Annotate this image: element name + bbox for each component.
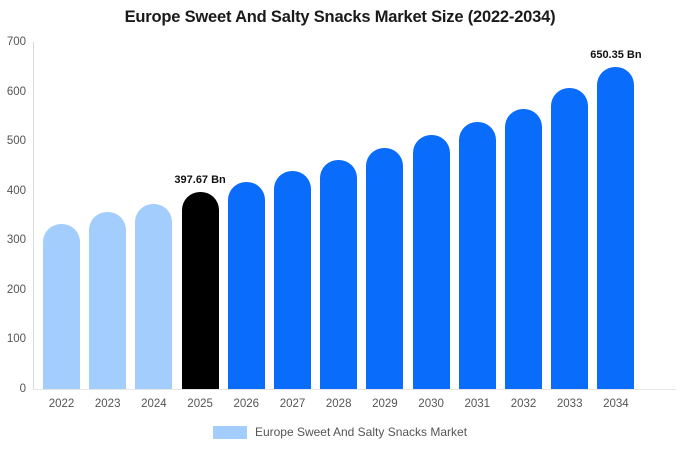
y-axis-tick-label: 700 — [7, 36, 33, 48]
bar-2029[interactable]: 2029 — [366, 42, 403, 389]
plot-area: 0100200300400500600700 202220232024397.6… — [33, 42, 676, 389]
bar-2030[interactable]: 2030 — [413, 42, 450, 389]
x-axis-tick-label: 2032 — [511, 398, 537, 410]
x-axis-tick-label: 2024 — [141, 398, 167, 410]
bar-2032[interactable]: 2032 — [505, 42, 542, 389]
y-axis-tick-label: 200 — [7, 284, 33, 296]
bar-rect[interactable] — [459, 122, 496, 389]
bar-2034[interactable]: 650.35 Bn2034 — [597, 42, 634, 389]
bar-rect[interactable] — [182, 192, 219, 389]
legend-item-label: Europe Sweet And Salty Snacks Market — [255, 425, 467, 439]
x-axis-tick-label: 2033 — [557, 398, 583, 410]
y-axis-tick-label: 600 — [7, 86, 33, 98]
bar-2025[interactable]: 397.67 Bn2025 — [182, 42, 219, 389]
y-axis-tick-label: 500 — [7, 135, 33, 147]
bar-rect[interactable] — [89, 212, 126, 389]
chart-title: Europe Sweet And Salty Snacks Market Siz… — [0, 8, 680, 27]
x-axis-baseline — [33, 389, 676, 390]
bar-2023[interactable]: 2023 — [89, 42, 126, 389]
bar-2027[interactable]: 2027 — [274, 42, 311, 389]
y-axis-tick-label: 300 — [7, 234, 33, 246]
bar-2033[interactable]: 2033 — [551, 42, 588, 389]
bar-rect[interactable] — [505, 109, 542, 389]
x-axis-tick-label: 2029 — [372, 398, 398, 410]
x-axis-tick-label: 2025 — [187, 398, 213, 410]
chart-legend: Europe Sweet And Salty Snacks Market — [0, 425, 680, 439]
bar-rect[interactable] — [135, 204, 172, 389]
bar-rect[interactable] — [43, 224, 80, 389]
legend-swatch-icon — [213, 426, 247, 439]
bar-2024[interactable]: 2024 — [135, 42, 172, 389]
bar-rect[interactable] — [597, 67, 634, 389]
bar-rect[interactable] — [228, 182, 265, 389]
y-axis-tick-label: 100 — [7, 333, 33, 345]
bar-value-label: 397.67 Bn — [174, 174, 225, 186]
x-axis-tick-label: 2023 — [95, 398, 121, 410]
bar-rect[interactable] — [551, 88, 588, 389]
x-axis-tick-label: 2031 — [465, 398, 491, 410]
x-axis-tick-label: 2027 — [280, 398, 306, 410]
bar-rect[interactable] — [413, 135, 450, 389]
y-axis-tick-label: 0 — [20, 383, 33, 395]
bar-rect[interactable] — [274, 171, 311, 389]
x-axis-tick-label: 2022 — [49, 398, 75, 410]
bar-2022[interactable]: 2022 — [43, 42, 80, 389]
bar-2026[interactable]: 2026 — [228, 42, 265, 389]
chart-container: Europe Sweet And Salty Snacks Market Siz… — [0, 0, 680, 450]
bar-rect[interactable] — [320, 160, 357, 389]
bar-rect[interactable] — [366, 148, 403, 389]
bar-2028[interactable]: 2028 — [320, 42, 357, 389]
bar-2031[interactable]: 2031 — [459, 42, 496, 389]
x-axis-tick-label: 2026 — [234, 398, 260, 410]
bar-value-label: 650.35 Bn — [590, 49, 641, 61]
x-axis-tick-label: 2028 — [326, 398, 352, 410]
y-axis-tick-label: 400 — [7, 185, 33, 197]
x-axis-tick-label: 2034 — [603, 398, 629, 410]
x-axis-tick-label: 2030 — [418, 398, 444, 410]
